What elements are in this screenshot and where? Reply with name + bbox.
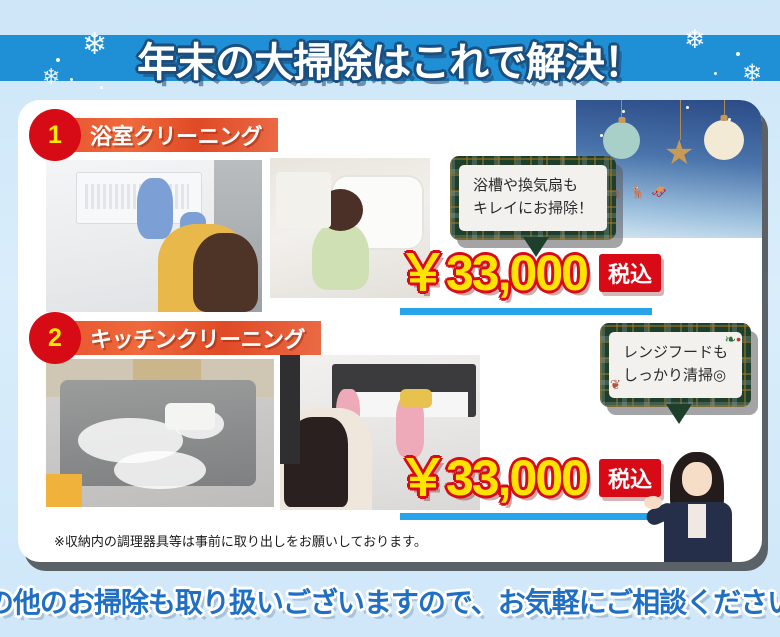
- section-number-badge: 1: [32, 112, 78, 158]
- speech-bubble-bathroom: 浴槽や換気扇も キレイにお掃除！: [450, 156, 616, 240]
- section-number-badge: 2: [32, 315, 78, 361]
- header: 年末の大掃除はこれで解決！: [0, 26, 780, 92]
- price-amount: ￥33,000: [398, 453, 587, 503]
- price-underline: [400, 308, 652, 315]
- bubble-line-2: しっかり清掃◎: [623, 367, 726, 386]
- bubble-line-1: レンジフードも: [623, 344, 728, 363]
- sprig-icon: ❦: [610, 377, 621, 393]
- bubble-line-1: 浴槽や換気扇も: [473, 177, 578, 196]
- page-title: 年末の大掃除はこれで解決！: [137, 30, 643, 88]
- price-kitchen: ￥33,000 税込: [398, 453, 661, 503]
- section-title: 浴室クリーニング: [90, 119, 262, 151]
- main-card: ★ 🦌 🦌 🦌 🛷 1 浴室クリーニング: [18, 100, 762, 562]
- footer-text: その他のお掃除も取り扱いございますので、お気軽にご相談ください。: [0, 581, 780, 621]
- staff-photo: [644, 450, 748, 562]
- section-title: キッチンクリーニング: [90, 322, 305, 354]
- holly-icon: ❧•: [724, 331, 741, 348]
- speech-bubble-kitchen: レンジフードも しっかり清掃◎ ❧• ❦: [600, 323, 751, 407]
- bubble-line-2: キレイにお掃除！: [473, 200, 593, 219]
- section-title-ribbon: キッチンクリーニング: [64, 321, 321, 355]
- photo-kitchen-sink-cleaning: [46, 359, 274, 507]
- price-amount: ￥33,000: [398, 248, 587, 298]
- section-title-ribbon: 浴室クリーニング: [64, 118, 278, 152]
- price-underline: [400, 513, 652, 520]
- photo-bathroom-ceiling-fan-cleaning: [46, 160, 262, 312]
- footer: その他のお掃除も取り扱いございますので、お気軽にご相談ください。: [0, 573, 780, 629]
- price-bathroom: ￥33,000 税込: [398, 248, 661, 298]
- section-bathroom-cleaning: 1 浴室クリーニング 浴槽や換気扇も キレイにお掃除！: [18, 108, 762, 316]
- tax-included-badge: 税込: [599, 254, 661, 292]
- disclaimer-note: ※収納内の調理器具等は事前に取り出しをお願いしております。: [54, 531, 427, 550]
